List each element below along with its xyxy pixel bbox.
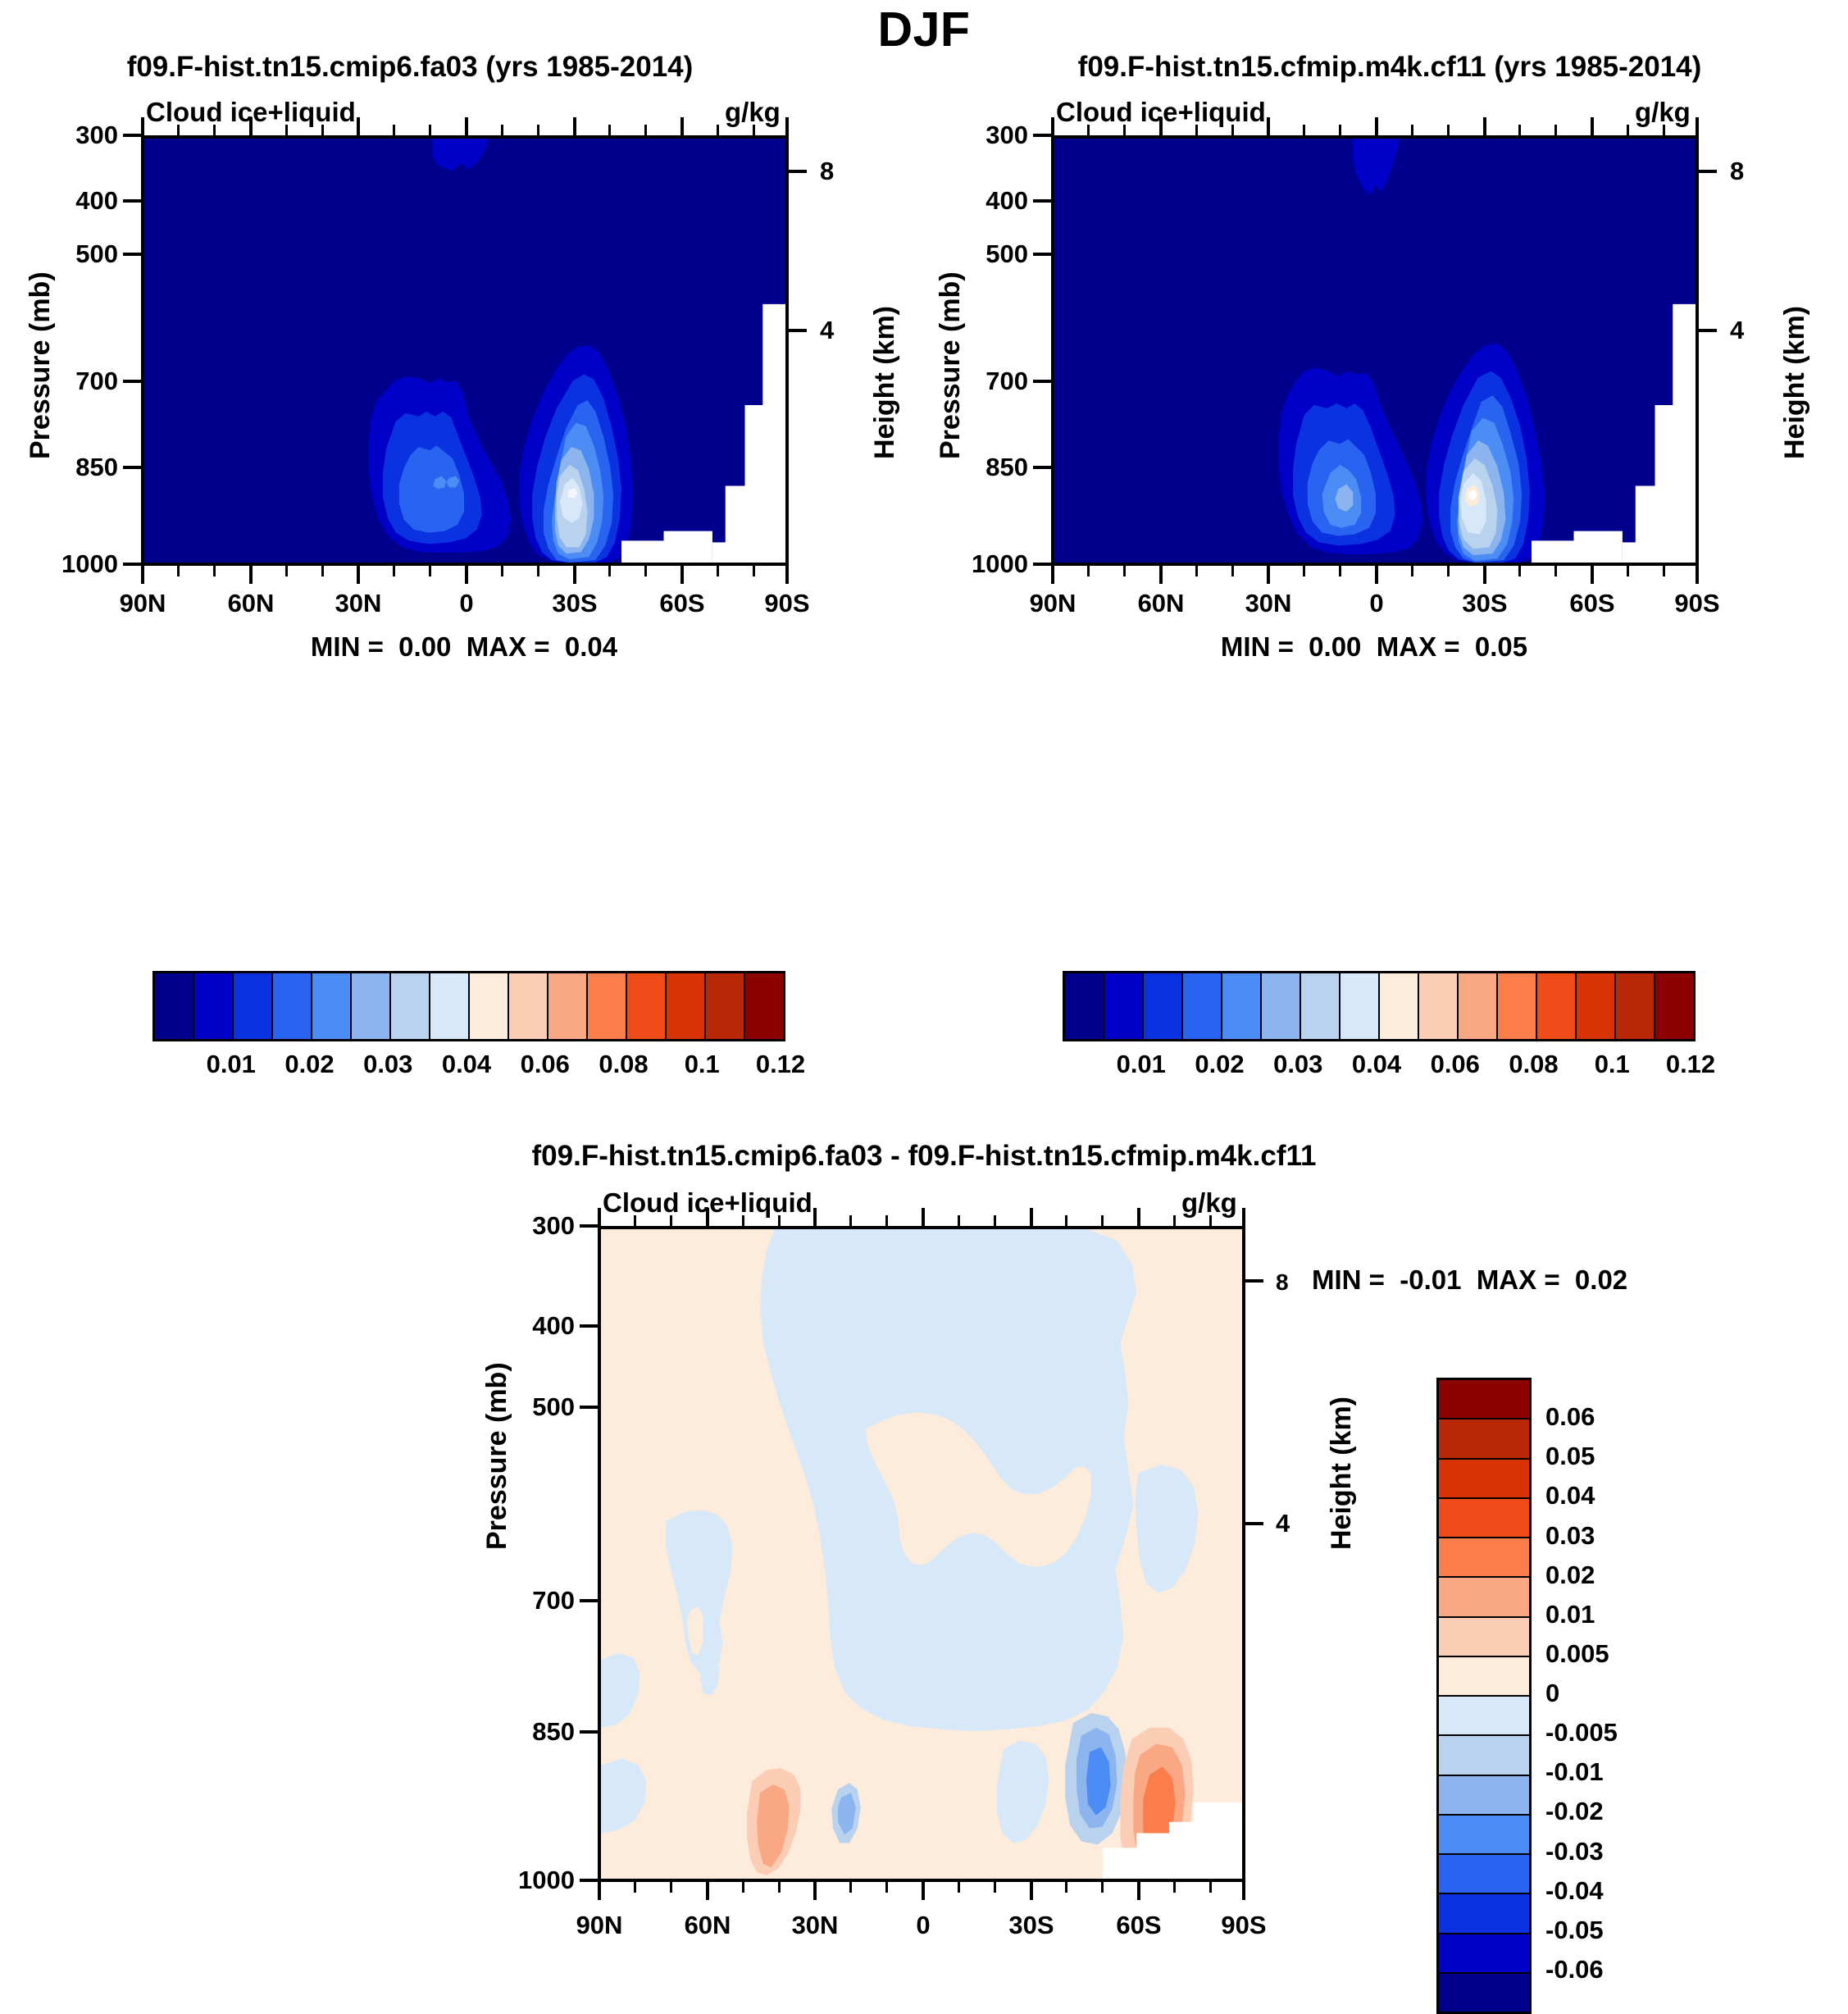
pressure-label-850-b: 850 [498,1717,575,1747]
colorbar-swatch[interactable] [1439,1934,1529,1974]
pressure-label-500-tl: 500 [41,239,118,269]
colorbar-tick-label: 0 [1545,1679,1685,1708]
colorbar-tick-label: 0.01 [1545,1600,1685,1629]
difference-colorbar-labels: 0.060.050.040.030.020.010.0050-0.005-0.0… [1545,1378,1742,2009]
colorbar-swatch[interactable] [273,973,312,1039]
height-label-8-tr: 8 [1730,157,1744,186]
colorbar-tick-label: 0.02 [1195,1050,1244,1079]
pressure-label-1000-b: 1000 [486,1866,575,1895]
height-label-8-b: 8 [1276,1269,1289,1296]
tick-p500-tl [123,253,141,256]
colorbar-swatch[interactable] [1498,973,1537,1039]
colorbar-swatch[interactable] [391,973,430,1039]
top-left-minmax: MIN = 0.00 MAX = 0.04 [311,631,617,663]
pressure-label-400-b: 400 [498,1311,575,1341]
colorbar-tick-label: 0.06 [521,1050,570,1079]
colorbar-swatch[interactable] [509,973,548,1039]
colorbar-tick-label: 0.03 [363,1050,412,1079]
top-left-units-label: g/kg [725,97,781,128]
colorbar-swatch[interactable] [1439,1816,1529,1855]
pressure-label-300-b: 300 [498,1211,575,1241]
colorbar-tick-label: 0.02 [284,1050,334,1079]
tick-p300-tl [123,134,141,137]
colorbar-swatch[interactable] [1537,973,1577,1039]
colorbar-swatch[interactable] [1380,973,1419,1039]
colorbar-swatch[interactable] [194,973,234,1039]
colorbar-swatch[interactable] [1144,973,1183,1039]
colorbar-swatch[interactable] [1459,973,1498,1039]
colorbar-swatch[interactable] [1301,973,1340,1039]
colorbar-tick-label: 0.04 [1545,1481,1685,1510]
colorbar-tick-label: 0.1 [685,1050,720,1079]
tick-h8-tr [1699,170,1717,173]
pressure-label-300-tr: 300 [951,121,1028,150]
bottom-units-label: g/kg [1181,1187,1237,1219]
top-right-contour-field [1054,139,1696,563]
pressure-label-300-tl: 300 [41,121,118,150]
bottom-difference-contour-field [601,1229,1242,1879]
colorbar-swatch[interactable] [627,973,667,1039]
bottom-panel-title: f09.F-hist.tn15.cmip6.fa03 - f09.F-hist.… [309,1140,1539,1173]
colorbar-swatch[interactable] [1419,973,1459,1039]
colorbar-tick-label: 0.04 [442,1050,491,1079]
colorbar-swatch[interactable] [548,973,588,1039]
colorbar-tick-label: 0.12 [756,1050,805,1079]
pressure-label-500-tr: 500 [951,239,1028,269]
pressure-label-850-tr: 850 [951,453,1028,482]
height-label-4-tl: 4 [820,316,834,345]
colorbar-tick-label: 0.01 [207,1050,256,1079]
colorbar-tick-label: 0.03 [1273,1050,1322,1079]
top-left-plot-area [141,135,789,566]
colorbar-tick-label: 0.01 [1117,1050,1166,1079]
tick-p1000-tl [123,563,141,566]
colorbar-tick-label: 0.06 [1431,1050,1480,1079]
colorbar-tick-label: 0.06 [1545,1402,1685,1432]
bottom-pressure-axis-label: Pressure (mb) [481,1362,513,1550]
tick-h8-b [1245,1279,1263,1283]
colorbar-swatch[interactable] [430,973,470,1039]
colorbar-swatch[interactable] [1439,1499,1529,1538]
colorbar-swatch[interactable] [155,973,194,1039]
colorbar-tick-label: 0.005 [1545,1639,1685,1669]
tick-p850-tl [123,466,141,469]
tick-h8-tl [789,170,807,173]
colorbar-tick-label: 0.03 [1545,1521,1685,1551]
colorbar-tick-label: -0.04 [1545,1876,1685,1906]
colorbar-swatch[interactable] [706,973,745,1039]
colorbar-swatch[interactable] [1439,1974,1529,2012]
top-right-pressure-axis-label: Pressure (mb) [935,271,967,459]
colorbar-swatch[interactable] [588,973,627,1039]
colorbar-tick-label: 0.1 [1595,1050,1630,1079]
top-right-colorbar[interactable] [1063,971,1696,1041]
colorbar-swatch[interactable] [667,973,706,1039]
colorbar-tick-label: 0.04 [1352,1050,1401,1079]
colorbar-tick-label: 0.05 [1545,1442,1685,1471]
colorbar-swatch[interactable] [745,973,783,1039]
colorbar-swatch[interactable] [1439,1538,1529,1578]
colorbar-swatch[interactable] [1439,1419,1529,1459]
height-label-8-tl: 8 [820,157,834,186]
colorbar-swatch[interactable] [234,973,273,1039]
tick-p400-tl [123,199,141,203]
top-left-colorbar[interactable] [152,971,785,1041]
colorbar-swatch[interactable] [1616,973,1655,1039]
colorbar-swatch[interactable] [1222,973,1262,1039]
colorbar-swatch[interactable] [1340,973,1380,1039]
colorbar-swatch[interactable] [1439,1776,1529,1816]
height-label-4-b: 4 [1276,1509,1290,1538]
colorbar-swatch[interactable] [1439,1618,1529,1657]
bottom-minmax: MIN = -0.01 MAX = 0.02 [1312,1264,1627,1296]
tick-h4-tl [789,329,807,332]
colorbar-swatch[interactable] [1439,1736,1529,1775]
colorbar-tick-label: 0.08 [599,1050,648,1079]
pressure-label-1000-tl: 1000 [30,549,118,579]
bottom-height-axis-label: Height (km) [1326,1397,1358,1550]
top-right-plot-area [1051,135,1699,566]
colorbar-swatch[interactable] [1439,1894,1529,1934]
colorbar-swatch[interactable] [352,973,391,1039]
colorbar-swatch[interactable] [1439,1855,1529,1894]
colorbar-swatch[interactable] [1262,973,1301,1039]
colorbar-tick-label: 0.08 [1509,1050,1558,1079]
top-right-colorbar-labels: 0.010.020.030.040.060.080.10.12 [1063,1050,1691,1082]
top-left-colorbar-labels: 0.010.020.030.040.060.080.10.12 [152,1050,781,1082]
pressure-label-700-tl: 700 [41,367,118,396]
pressure-label-700-b: 700 [498,1586,575,1615]
colorbar-swatch[interactable] [1439,1460,1529,1499]
colorbar-swatch[interactable] [312,973,352,1039]
colorbar-swatch[interactable] [1439,1380,1529,1419]
top-left-pressure-axis-label: Pressure (mb) [25,271,57,459]
colorbar-tick-label: 0.12 [1666,1050,1715,1079]
top-right-units-label: g/kg [1635,97,1691,128]
top-left-height-axis-label: Height (km) [869,306,901,459]
colorbar-tick-label: -0.005 [1545,1718,1685,1747]
bottom-plot-area [598,1226,1245,1882]
colorbar-tick-label: -0.06 [1545,1955,1685,1984]
pressure-label-400-tr: 400 [951,186,1028,216]
height-label-4-tr: 4 [1730,316,1744,345]
colorbar-swatch[interactable] [1065,973,1104,1039]
colorbar-tick-label: -0.03 [1545,1837,1685,1866]
colorbar-swatch[interactable] [1439,1657,1529,1697]
colorbar-tick-label: -0.01 [1545,1757,1685,1787]
tick-p700-tl [123,380,141,383]
colorbar-swatch[interactable] [1104,973,1144,1039]
colorbar-tick-label: -0.05 [1545,1916,1685,1945]
top-right-panel-title: f09.F-hist.tn15.cfmip.m4k.cf11 (yrs 1985… [959,51,1820,84]
colorbar-swatch[interactable] [1439,1578,1529,1617]
colorbar-swatch[interactable] [1655,973,1693,1039]
pressure-label-400-tl: 400 [41,186,118,216]
top-right-height-axis-label: Height (km) [1779,306,1811,459]
top-right-minmax: MIN = 0.00 MAX = 0.05 [1221,631,1527,663]
pressure-label-1000-tr: 1000 [940,549,1028,579]
tick-h4-b [1245,1522,1263,1525]
colorbar-tick-label: -0.02 [1545,1797,1685,1826]
figure-main-title: DJF [0,2,1848,57]
colorbar-swatch[interactable] [1577,973,1616,1039]
pressure-label-500-b: 500 [498,1392,575,1422]
colorbar-swatch[interactable] [470,973,509,1039]
top-left-contour-field [144,139,785,563]
difference-colorbar[interactable] [1436,1378,1532,2014]
colorbar-swatch[interactable] [1183,973,1222,1039]
tick-h4-tr [1699,329,1717,332]
top-left-panel-title: f09.F-hist.tn15.cmip6.fa03 (yrs 1985-201… [49,51,771,84]
pressure-label-850-tl: 850 [41,453,118,482]
colorbar-swatch[interactable] [1439,1697,1529,1736]
pressure-label-700-tr: 700 [951,367,1028,396]
colorbar-tick-label: 0.02 [1545,1561,1685,1590]
